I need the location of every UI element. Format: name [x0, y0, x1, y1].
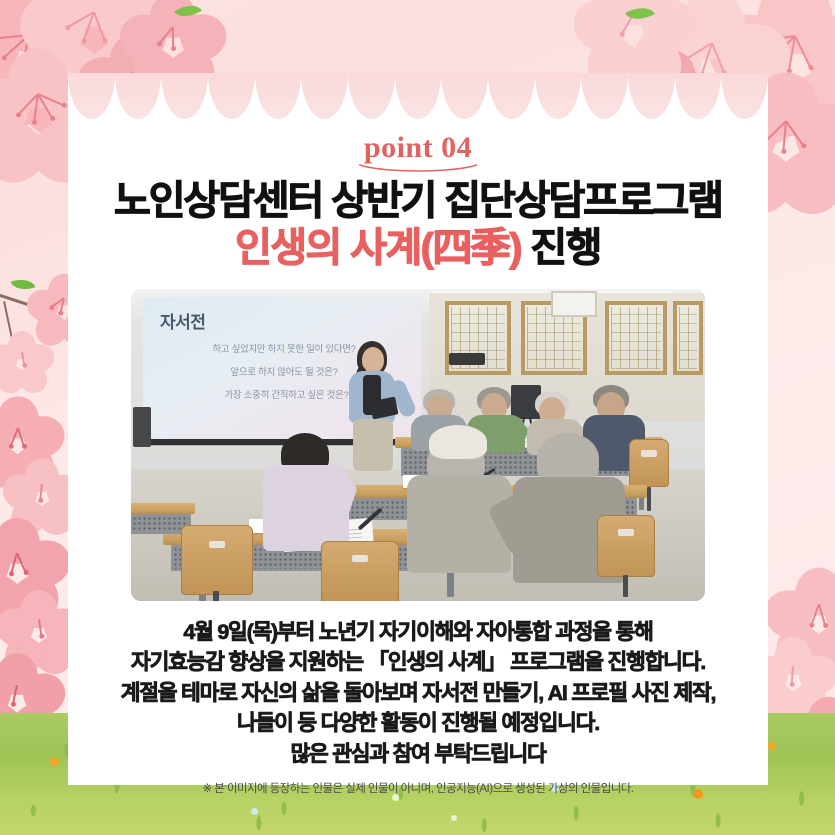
- chair: [321, 541, 399, 601]
- page-subtitle-accent: 인생의 사계(四季): [235, 226, 521, 270]
- cherry-blossom-icon: [0, 510, 60, 596]
- leaf-icon: [174, 0, 202, 23]
- ai-disclaimer: ※ 본 이미지에 등장하는 인물은 실제 인물이 아니며, 인공지능(AI)으로…: [78, 780, 758, 796]
- content-card: point 04 노인상담센터 상반기 집단상담프로그램 인생의 사계(四季) …: [68, 73, 768, 785]
- cherry-blossom-icon: [789, 690, 835, 770]
- program-photo: 자서전 하고 싶었지만 하지 못한 일이 있다면? 앞으로 하지 않아도 될 것…: [131, 289, 705, 601]
- desk-leg: [447, 571, 454, 597]
- body-line: 자기효능감 향상을 지원하는 「인생의 사계」 프로그램을 진행합니다.: [78, 647, 758, 678]
- point-label: point 04: [364, 131, 472, 165]
- body-line: 많은 관심과 참여 부탁드립니다: [78, 739, 758, 770]
- cherry-blossom-icon: [10, 452, 74, 516]
- cherry-blossom-icon: [0, 326, 48, 378]
- cherry-blossom-icon: [0, 706, 66, 790]
- cherry-blossom-icon: [775, 560, 835, 648]
- poster-root: point 04 노인상담센터 상반기 집단상담프로그램 인생의 사계(四季) …: [0, 0, 835, 835]
- cherry-blossom-icon: [0, 390, 56, 466]
- chair: [181, 525, 253, 595]
- body-line: 나들이 등 다양한 활동이 진행될 예정입니다.: [78, 708, 758, 739]
- chair-leg: [213, 591, 219, 601]
- underline-swash-icon: [358, 162, 478, 174]
- cherry-blossom-icon: [130, 0, 216, 70]
- leaf-icon: [625, 1, 655, 26]
- body-line: 4월 9일(목)부터 노년기 자기이해와 자아통합 과정을 통해: [78, 617, 758, 648]
- cherry-blossom-icon: [585, 0, 683, 62]
- branch-decoration: [0, 292, 50, 312]
- page-title: 노인상담센터 상반기 집단상담프로그램: [68, 179, 768, 224]
- chair-leg: [623, 575, 628, 597]
- desk: [131, 503, 195, 514]
- point-label-text: point 04: [364, 131, 472, 164]
- cabinet: [449, 353, 485, 365]
- cherry-blossom-icon: [34, 0, 154, 72]
- chair-leg: [647, 487, 651, 511]
- av-equipment: [133, 407, 151, 447]
- chair: [597, 515, 655, 577]
- window-icon: [605, 301, 667, 375]
- cherry-blossom-icon: [0, 646, 56, 724]
- cap-icon: [429, 425, 487, 459]
- chair: [629, 439, 669, 487]
- page-subtitle-rest: 진행: [521, 226, 601, 270]
- body-copy: 4월 9일(목)부터 노년기 자기이해와 자아통합 과정을 통해 자기효능감 향…: [78, 617, 758, 797]
- window-icon: [673, 301, 703, 375]
- cherry-blossom-icon: [4, 584, 74, 654]
- photo-scene: 자서전 하고 싶었지만 하지 못한 일이 있다면? 앞으로 하지 않아도 될 것…: [131, 289, 705, 601]
- slide-title: 자서전: [160, 308, 205, 333]
- leaf-icon: [11, 275, 36, 294]
- branch-decoration: [3, 301, 14, 344]
- wall-frame: [551, 291, 597, 317]
- body-line: 계절을 테마로 자신의 삶을 돌아보며 자서전 만들기, AI 프로필 사진 제…: [78, 678, 758, 709]
- page-subtitle: 인생의 사계(四季) 진행: [68, 226, 768, 271]
